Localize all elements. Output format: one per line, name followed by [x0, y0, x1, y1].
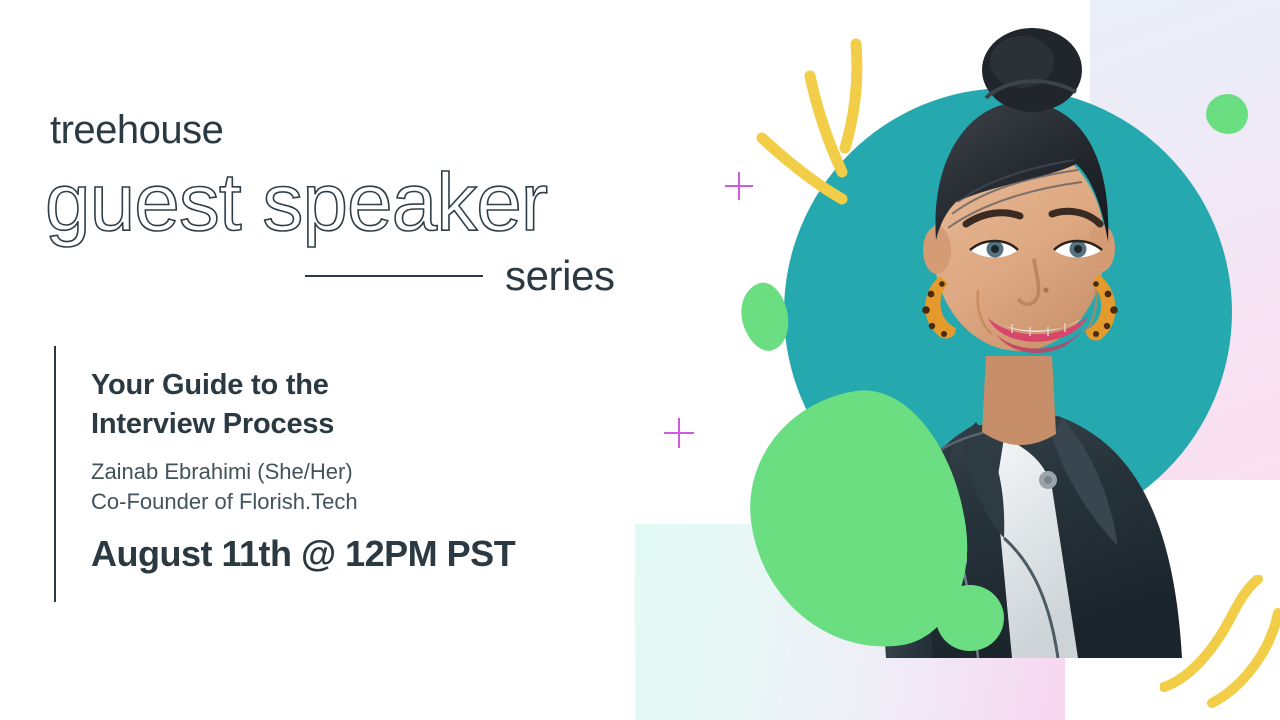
- series-divider-rule: [305, 275, 483, 277]
- session-title-line2: Interview Process: [91, 405, 651, 444]
- organic-blob-icon-dot: [936, 585, 1004, 651]
- plus-mark-icon-mid: [664, 418, 694, 448]
- plus-mark-icon-top: [725, 172, 753, 200]
- session-datetime: August 11th @ 12PM PST: [91, 533, 651, 575]
- curved-stroke-icon: [1160, 575, 1280, 720]
- info-vertical-rule: [54, 346, 56, 602]
- session-title-line1: Your Guide to the: [91, 366, 651, 405]
- brand-wordmark: treehouse: [50, 108, 223, 153]
- headline-outline-text: guest speaker: [45, 160, 547, 246]
- guest-speaker-promo-slide: treehouse guest speaker series Your Guid…: [0, 0, 1280, 720]
- speaker-name: Zainab Ebrahimi (She/Her): [91, 457, 651, 487]
- session-info-block: Your Guide to the Interview Process Zain…: [91, 366, 651, 575]
- speaker-role: Co-Founder of Florish.Tech: [91, 487, 651, 517]
- session-title: Your Guide to the Interview Process: [91, 366, 651, 443]
- series-row: series: [305, 252, 615, 300]
- series-label: series: [505, 252, 615, 300]
